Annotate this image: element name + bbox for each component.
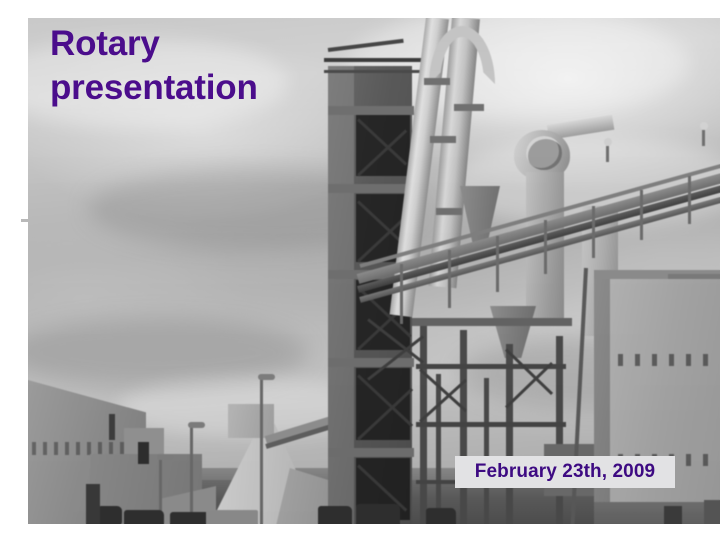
parked-truck [318, 506, 352, 524]
tower-floor-slab [328, 358, 414, 367]
lamp-post [190, 424, 193, 524]
fan-scroll [526, 136, 562, 170]
steel-column [506, 344, 513, 524]
parked-truck [206, 510, 258, 524]
left-margin-tick [21, 219, 31, 222]
duct-flange [436, 208, 462, 215]
date-badge: February 23th, 2009 [455, 456, 675, 488]
platform-slab [412, 318, 572, 326]
storage-pile-head-house [228, 404, 274, 438]
bridge-lamp-pole [606, 146, 609, 162]
bridge-support-post [544, 220, 547, 274]
bridge-lamp-icon [604, 138, 612, 146]
building-window-row [618, 354, 720, 366]
duct-flange [454, 104, 484, 111]
date-label: February 23th, 2009 [475, 461, 655, 483]
parked-vehicle [98, 506, 122, 524]
ground-container [704, 500, 720, 524]
ground-drum [664, 506, 682, 524]
bridge-support-post [448, 250, 451, 308]
bridge-support-post [400, 264, 403, 324]
steel-column [460, 330, 467, 524]
plant-building-base [594, 502, 720, 524]
lamp-head-icon [157, 454, 174, 460]
duct-flange [424, 78, 450, 85]
lamp-head-icon [258, 374, 275, 380]
slide: Rotary presentation February 23th, 2009 [0, 0, 720, 540]
tower-floor-slab [328, 448, 414, 457]
page-title: Rotary presentation [50, 22, 380, 110]
tower-floor-slab [328, 184, 414, 193]
parked-truck [356, 504, 400, 524]
warehouse-stack-pipe [109, 414, 115, 440]
bridge-support-post [592, 206, 595, 258]
lamp-head-icon [188, 422, 205, 428]
bridge-lamp-pole [702, 130, 705, 146]
duct-flange [430, 136, 456, 143]
parked-vehicle [426, 508, 456, 524]
steel-column [436, 374, 441, 524]
warehouse-doorway [138, 442, 149, 464]
bridge-support-post [496, 236, 499, 292]
steel-column [484, 378, 489, 524]
ground-drum [86, 484, 100, 524]
steel-beam [416, 422, 566, 427]
bridge-support-post [640, 190, 643, 240]
bridge-support-post [688, 176, 691, 224]
lamp-post [260, 376, 263, 524]
bridge-lamp-icon [700, 122, 708, 130]
parked-car [124, 510, 164, 524]
roof-railing [668, 274, 720, 279]
